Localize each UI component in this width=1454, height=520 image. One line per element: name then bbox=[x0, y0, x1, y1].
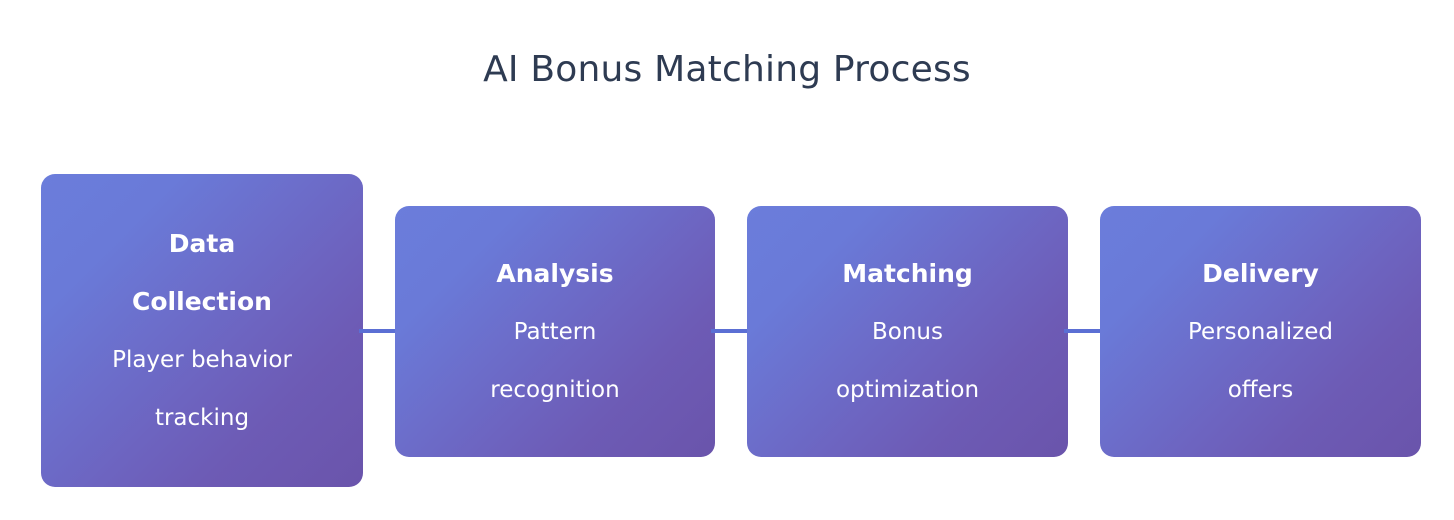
flow-connector bbox=[359, 329, 399, 333]
flow-node-description: Bonus optimization bbox=[818, 303, 998, 419]
flow-node-data-collection[interactable]: Data Collection Player behavior tracking bbox=[41, 174, 363, 487]
flow-node-description: Pattern recognition bbox=[468, 303, 643, 419]
flow-node-matching[interactable]: Matching Bonus optimization bbox=[747, 206, 1068, 457]
flow-connector bbox=[1064, 329, 1104, 333]
flow-node-analysis[interactable]: Analysis Pattern recognition bbox=[395, 206, 715, 457]
flow-node-title: Delivery bbox=[1100, 245, 1421, 303]
flow-node-title: Analysis bbox=[395, 245, 715, 303]
flow-connector bbox=[711, 329, 751, 333]
flow-node-description: Player behavior tracking bbox=[85, 331, 320, 447]
page-title: AI Bonus Matching Process bbox=[0, 52, 1454, 88]
flow-node-title: Data Collection bbox=[117, 215, 287, 331]
diagram-canvas: AI Bonus Matching Process Data Collectio… bbox=[0, 0, 1454, 520]
flow-node-delivery[interactable]: Delivery Personalized offers bbox=[1100, 206, 1421, 457]
flow-node-title: Matching bbox=[747, 245, 1068, 303]
flow-node-description: Personalized offers bbox=[1171, 303, 1351, 419]
